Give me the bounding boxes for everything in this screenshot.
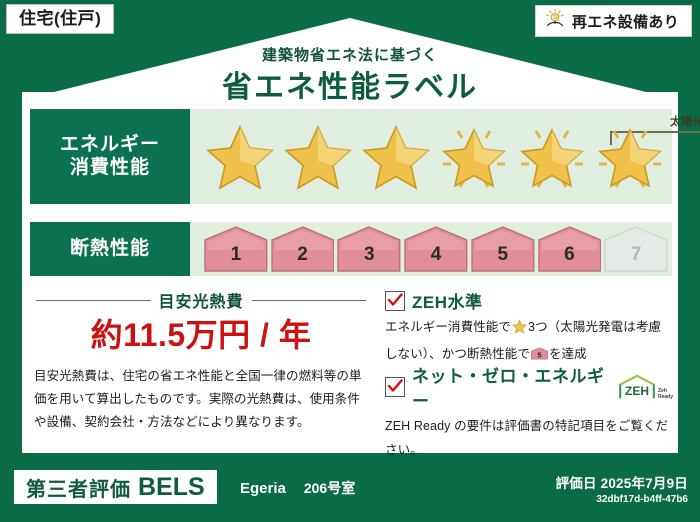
- solar-star-icon: [514, 119, 590, 195]
- zeh-standard-title: ZEH水準: [412, 288, 483, 313]
- insulation-level-number: 7: [631, 244, 642, 266]
- zeh-ready-sublabel: Zeh Ready: [658, 389, 673, 400]
- divider-left: [36, 300, 151, 301]
- insulation-body: 1 2 3 4 5: [190, 222, 672, 276]
- building-info: Egeria 206号室: [240, 478, 355, 498]
- energy-performance-label: 住宅(住戸) 再エネ設備あり 建築物省エネ法に基づく 省エネ性能ラベル: [0, 0, 700, 522]
- renewable-energy-badge: 再エネ設備あり: [535, 5, 692, 37]
- building-type-tag: 住宅(住戸): [6, 4, 114, 34]
- insulation-level-1: 1: [204, 226, 268, 272]
- star-icon: [358, 119, 434, 195]
- solar-star-icon: [436, 119, 512, 195]
- svg-text:ZEH: ZEH: [625, 384, 649, 398]
- energy-star-rating: [198, 109, 668, 204]
- zeh-standard-body-a: エネルギー消費性能で: [385, 320, 511, 334]
- insulation-label: 断熱性能: [30, 222, 190, 276]
- insulation-level-3: 3: [337, 226, 401, 272]
- insulation-level-4: 4: [404, 226, 468, 272]
- energy-label-line2: 消費性能: [70, 157, 150, 179]
- zeh-netzero-block: ネット・ゼロ・エネルギー ZEH Zeh Ready ZEH Ready の要件…: [385, 362, 673, 463]
- utility-cost-value: 約11.5万円 / 年: [36, 310, 366, 356]
- zeh-netzero-title: ネット・ゼロ・エネルギー: [412, 362, 606, 412]
- evaluation-info: 評価日 2025年7月9日 32dbf17d-b4ff-47b6: [556, 472, 688, 505]
- unit-number: 206号室: [304, 478, 355, 498]
- bels-jp-label: 第三者評価: [26, 473, 131, 502]
- insulation-performance-row: 断熱性能 1 2 3 4: [30, 222, 672, 276]
- zeh-standard-body-c: を達成: [549, 347, 587, 361]
- evaluation-date: 評価日 2025年7月9日: [556, 472, 688, 492]
- svg-text:5: 5: [537, 350, 542, 359]
- star-icon: [202, 119, 278, 195]
- insulation-level-number: 2: [297, 244, 308, 266]
- solar-star-icon: [592, 119, 668, 195]
- zeh-standard-block: ZEH水準 エネルギー消費性能で3つ（太陽光発電は考慮しない）、かつ断熱性能で5…: [385, 288, 673, 370]
- zeh-netzero-checkbox[interactable]: [385, 377, 405, 397]
- utility-cost-heading: 目安光熱費: [36, 288, 366, 312]
- renewable-badge-label: 再エネ設備あり: [572, 11, 679, 32]
- energy-consumption-body: 太陽光発電(自家消費)分: [190, 109, 672, 204]
- footer-bar: 第三者評価 BELS Egeria 206号室 評価日 2025年7月9日 32…: [0, 462, 700, 522]
- zeh-standard-title-line: ZEH水準: [385, 288, 673, 313]
- zeh-ready-sub2: Ready: [658, 394, 673, 400]
- insulation-level-number: 3: [364, 244, 375, 266]
- bels-en-label: BELS: [138, 473, 205, 502]
- insulation-level-6: 6: [538, 226, 602, 272]
- divider-right: [252, 300, 367, 301]
- zeh-netzero-body: ZEH Ready の要件は評価書の特記項目をご覧ください。: [385, 415, 673, 463]
- insulation-level-5: 5: [471, 226, 535, 272]
- insulation-level-2: 2: [271, 226, 335, 272]
- utility-cost-heading-text: 目安光熱費: [159, 288, 244, 312]
- zeh-ready-logo: ZEH Zeh Ready: [617, 374, 673, 400]
- insulation-level-7: 7: [604, 226, 668, 272]
- energy-consumption-label: エネルギー 消費性能: [30, 109, 190, 204]
- insulation-level-scale: 1 2 3 4 5: [198, 224, 668, 274]
- utility-cost-note: 目安光熱費は、住宅の省エネ性能と全国一律の燃料等の単価を用いて算出したものです。…: [34, 365, 372, 434]
- solar-sun-icon: [544, 8, 566, 35]
- insulation-level-number: 4: [431, 244, 442, 266]
- zeh-standard-checkbox[interactable]: [385, 291, 405, 311]
- zeh-netzero-title-line: ネット・ゼロ・エネルギー ZEH Zeh Ready: [385, 362, 673, 412]
- bels-logo-box: 第三者評価 BELS: [14, 470, 217, 504]
- insulation-level-number: 6: [564, 244, 575, 266]
- insulation-level-number: 5: [497, 244, 508, 266]
- building-name: Egeria: [240, 480, 286, 497]
- star-icon: [280, 119, 356, 195]
- label-title: 省エネ性能ラベル: [0, 62, 700, 106]
- insulation-level-number: 1: [231, 244, 242, 266]
- star-icon: [512, 319, 527, 343]
- energy-consumption-row: エネルギー 消費性能 太陽光発電(自家消費)分: [30, 109, 672, 204]
- energy-label-line1: エネルギー: [60, 134, 160, 156]
- evaluation-id: 32dbf17d-b4ff-47b6: [556, 494, 688, 505]
